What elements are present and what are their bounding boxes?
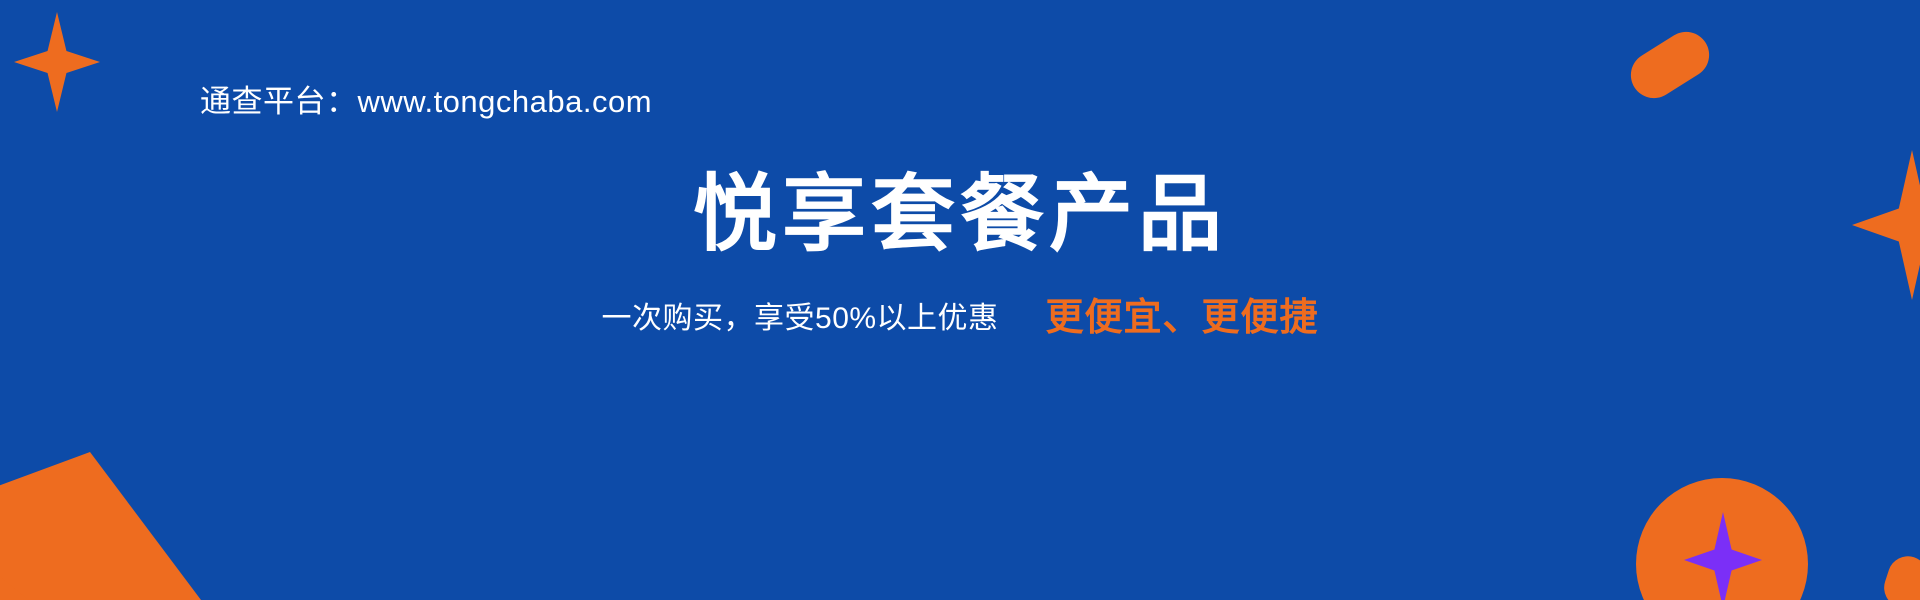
- promo-banner: 通查平台：www.tongchaba.com 悦享套餐产品 一次购买，享受50%…: [0, 0, 1920, 600]
- site-url-line: 通查平台：www.tongchaba.com: [200, 83, 652, 122]
- subtitle-highlight-text: 更便宜、更便捷: [1045, 297, 1318, 339]
- subtitle-row: 一次购买，享受50%以上优惠 更便宜、更便捷: [0, 294, 1920, 343]
- banner-content: 通查平台：www.tongchaba.com 悦享套餐产品 一次购买，享受50%…: [0, 0, 1920, 600]
- subtitle-plain-text: 一次购买，享受50%以上优惠: [602, 302, 999, 335]
- page-title: 悦享套餐产品: [0, 168, 1920, 260]
